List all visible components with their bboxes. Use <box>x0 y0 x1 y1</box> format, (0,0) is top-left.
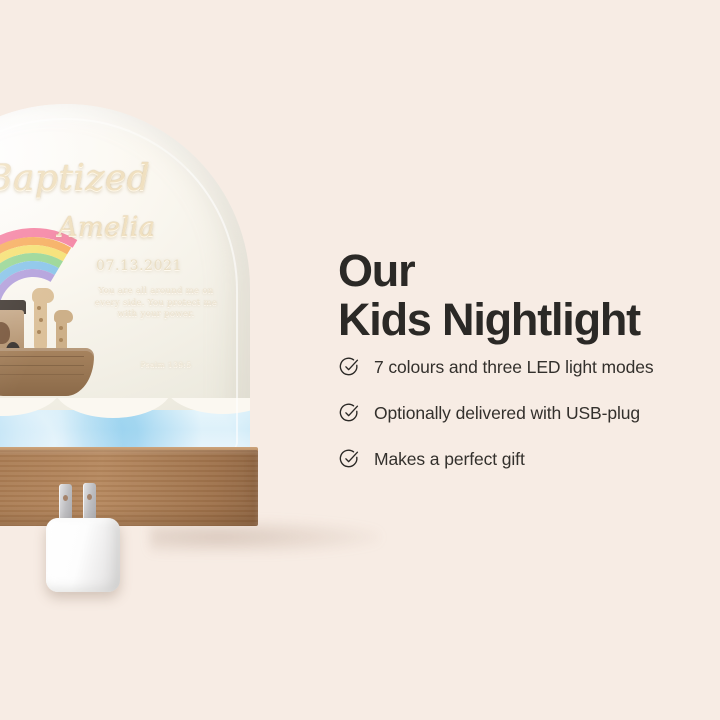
product-promo-image: Baptized Amelia 07.13.2021 You are all a… <box>0 0 720 720</box>
feature-text: Optionally delivered with USB-plug <box>374 403 640 424</box>
plaque-title: Baptized <box>0 158 150 199</box>
wooden-base <box>0 450 258 526</box>
usb-power-plug <box>46 518 120 592</box>
plaque-name: Amelia <box>58 212 155 243</box>
product-photo: Baptized Amelia 07.13.2021 You are all a… <box>0 0 360 720</box>
plaque-verse: You are all around me on every side. You… <box>92 286 220 321</box>
circle-check-icon <box>338 448 374 470</box>
noahs-ark-illustration <box>0 290 100 410</box>
giraffe-head-icon <box>32 288 54 303</box>
marketing-copy: Our Kids Nightlight 7 colours and three … <box>338 0 720 720</box>
circle-check-icon <box>338 356 374 378</box>
ark-hull <box>0 348 94 396</box>
page-title: Our Kids Nightlight <box>338 246 718 344</box>
headline-line-2: Kids Nightlight <box>338 295 718 344</box>
list-item: 7 colours and three LED light modes <box>338 344 720 390</box>
feature-list: 7 colours and three LED light modes Opti… <box>338 344 720 482</box>
feature-text: Makes a perfect gift <box>374 449 525 470</box>
feature-text: 7 colours and three LED light modes <box>374 357 654 378</box>
giraffe-head-icon <box>54 310 73 323</box>
list-item: Optionally delivered with USB-plug <box>338 390 720 436</box>
plaque-date: 07.13.2021 <box>96 258 182 274</box>
circle-check-icon <box>338 402 374 424</box>
plaque-verse-reference: Psalm 139:5 <box>120 360 212 369</box>
list-item: Makes a perfect gift <box>338 436 720 482</box>
headline-line-1: Our <box>338 246 718 295</box>
